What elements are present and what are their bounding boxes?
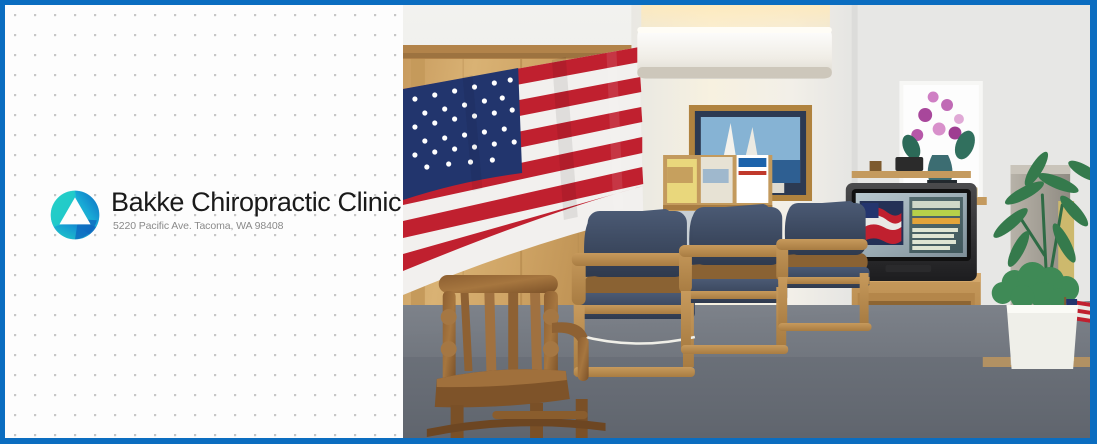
clinic-address: 5220 Pacific Ave. Tacoma, WA 98408 — [111, 219, 391, 233]
clinic-brand-lockup[interactable]: Bakke Chiropractic Clinic 5220 Pacific A… — [49, 187, 389, 249]
branding-panel: Bakke Chiropractic Clinic 5220 Pacific A… — [5, 5, 403, 438]
brand-text-block: Bakke Chiropractic Clinic 5220 Pacific A… — [111, 187, 391, 233]
page-canvas: Bakke Chiropractic Clinic 5220 Pacific A… — [5, 5, 1090, 438]
waiting-room-photo: Chiropractic clinic waiting room interio… — [403, 5, 1090, 438]
iris-swirl-logo-icon — [49, 189, 101, 241]
clinic-name: Bakke Chiropractic Clinic — [111, 187, 391, 217]
page-frame: Bakke Chiropractic Clinic 5220 Pacific A… — [0, 0, 1097, 444]
wall-sconce-graphic — [637, 27, 832, 79]
